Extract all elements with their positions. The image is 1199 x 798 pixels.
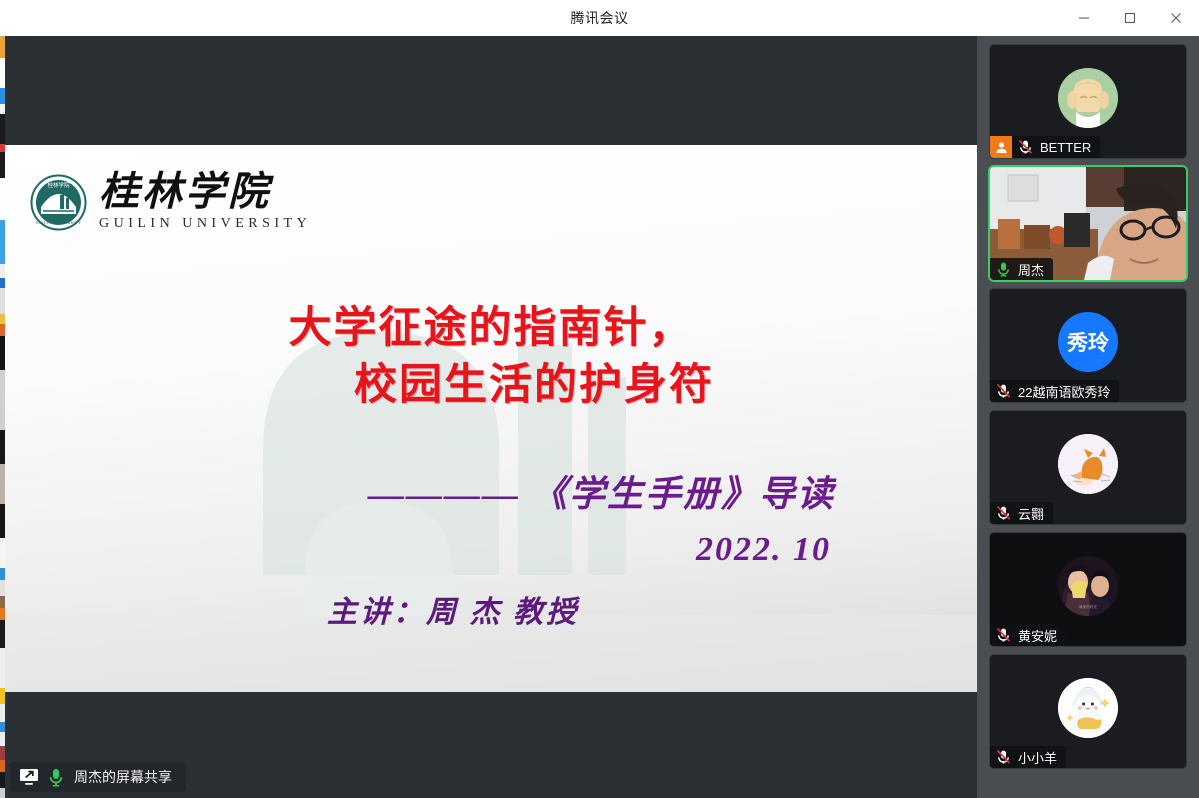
- participant-name: 周杰: [1018, 260, 1044, 279]
- window-controls: [1061, 0, 1199, 36]
- svg-text:最美的时光: 最美的时光: [1079, 604, 1097, 609]
- minimize-icon: [1078, 12, 1090, 24]
- tile-nameplate: BETTER: [990, 136, 1100, 158]
- slide-subtitle-block: ———— 《学生手册》导读 2022. 10 主讲：周 杰 教授: [5, 465, 977, 631]
- avatar: 最美的时光: [1058, 556, 1118, 616]
- tile-nameplate: 小小羊: [990, 746, 1066, 768]
- participant-rail[interactable]: BETTER: [977, 36, 1199, 798]
- tencent-meeting-window: 腾讯会议: [0, 0, 1199, 798]
- participant-tile[interactable]: 最美的时光 黄安妮: [990, 533, 1186, 646]
- slide-subtitle: ———— 《学生手册》导读: [5, 465, 977, 517]
- screen-share-icon: [18, 766, 40, 788]
- window-title-bar: 腾讯会议: [0, 0, 1199, 37]
- tile-nameplate: 22越南语欧秀玲: [990, 380, 1119, 402]
- svg-text:桂林学院: 桂林学院: [47, 181, 70, 189]
- avatar: [1058, 68, 1118, 128]
- participant-name: BETTER: [1040, 140, 1091, 155]
- participant-name: 小小羊: [1018, 748, 1057, 767]
- screen-share-label: 周杰的屏幕共享: [74, 767, 172, 787]
- microphone-muted-icon: [1014, 136, 1036, 158]
- participant-tile[interactable]: 云翾: [990, 411, 1186, 524]
- shared-screen-stage: 桂林学院 GUILIN UNIVERSITY 桂林学院 GUILIN UNIVE…: [5, 36, 977, 798]
- maximize-button[interactable]: [1107, 0, 1153, 36]
- screen-share-status-bar[interactable]: 周杰的屏幕共享: [10, 762, 186, 792]
- microphone-muted-icon: [992, 624, 1014, 646]
- host-badge-icon: [990, 136, 1012, 158]
- logo-chinese-name: 桂林学院: [99, 172, 311, 212]
- microphone-muted-icon: [992, 746, 1014, 768]
- svg-text:GUILIN UNIVERSITY: GUILIN UNIVERSITY: [36, 220, 82, 225]
- maximize-icon: [1124, 12, 1136, 24]
- microphone-on-icon: [47, 767, 65, 787]
- participant-tile[interactable]: BETTER: [990, 45, 1186, 158]
- logo-english-name: GUILIN UNIVERSITY: [99, 216, 311, 232]
- microphone-on-icon: [992, 258, 1014, 280]
- participant-name: 22越南语欧秀玲: [1018, 382, 1110, 401]
- slide-speaker: 主讲：周 杰 教授: [5, 587, 977, 631]
- tile-nameplate: 周杰: [990, 258, 1053, 280]
- presentation-slide: 桂林学院 GUILIN UNIVERSITY 桂林学院 GUILIN UNIVE…: [5, 145, 977, 692]
- slide-title-line-1: 大学征途的指南针，: [5, 300, 977, 357]
- close-button[interactable]: [1153, 0, 1199, 36]
- logo-wordmark: 桂林学院 GUILIN UNIVERSITY: [99, 172, 311, 232]
- microphone-muted-icon: [992, 502, 1014, 524]
- window-title: 腾讯会议: [571, 8, 629, 28]
- participant-tile[interactable]: 小小羊: [990, 655, 1186, 768]
- minimize-button[interactable]: [1061, 0, 1107, 36]
- participant-name: 黄安妮: [1018, 626, 1057, 645]
- close-icon: [1170, 12, 1182, 24]
- slide-date: 2022. 10: [5, 531, 977, 569]
- participant-tile[interactable]: 周杰: [990, 167, 1186, 280]
- microphone-muted-icon: [992, 380, 1014, 402]
- university-emblem-icon: 桂林学院 GUILIN UNIVERSITY: [30, 174, 87, 231]
- avatar-initials: 秀玲: [1067, 327, 1109, 357]
- avatar: [1058, 678, 1118, 738]
- avatar: [1058, 434, 1118, 494]
- tile-nameplate: 黄安妮: [990, 624, 1066, 646]
- tile-nameplate: 云翾: [990, 502, 1053, 524]
- slide-title-line-2: 校园生活的护身符: [5, 357, 977, 414]
- avatar: 秀玲: [1058, 312, 1118, 372]
- slide-title-block: 大学征途的指南针， 校园生活的护身符: [5, 300, 977, 414]
- participant-tile[interactable]: 秀玲 22越南语欧秀玲: [990, 289, 1186, 402]
- participant-name: 云翾: [1018, 504, 1044, 523]
- university-logo: 桂林学院 GUILIN UNIVERSITY 桂林学院 GUILIN UNIVE…: [30, 172, 311, 232]
